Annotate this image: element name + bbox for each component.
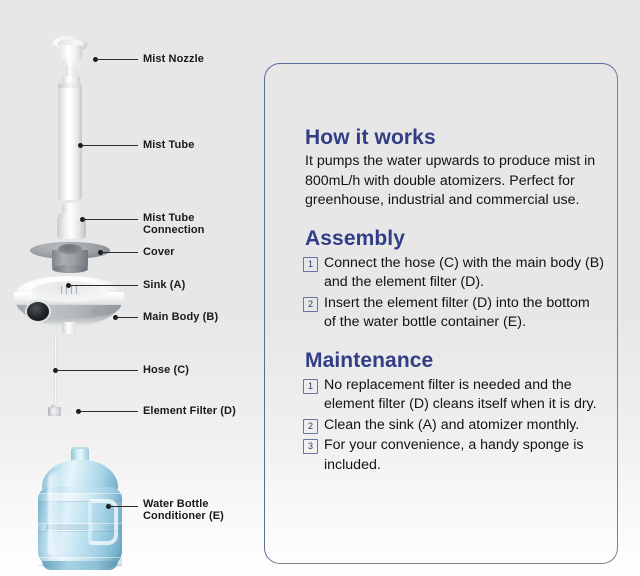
cover-hole bbox=[58, 244, 82, 254]
label-main-body: Main Body (B) bbox=[143, 311, 218, 323]
step-number-box: 2 bbox=[303, 419, 318, 434]
main-body-outlet bbox=[62, 322, 76, 334]
maintenance-title: Maintenance bbox=[305, 349, 605, 373]
part-cover bbox=[30, 238, 110, 274]
exploded-parts-diagram: Mist Nozzle Mist Tube Mist Tube Connecti… bbox=[0, 0, 262, 576]
leader-line-mist-tube bbox=[81, 145, 138, 146]
maintenance-steps: 1 No replacement filter is needed and th… bbox=[305, 376, 605, 476]
leader-line-mist-nozzle bbox=[96, 59, 138, 60]
leader-line-element-filter bbox=[79, 411, 138, 412]
main-body-port bbox=[27, 302, 49, 321]
element-filter-body bbox=[48, 407, 61, 416]
label-cover: Cover bbox=[143, 246, 175, 258]
list-item: 2 Clean the sink (A) and atomizer monthl… bbox=[305, 416, 605, 436]
assembly-steps: 1 Connect the hose (C) with the main bod… bbox=[305, 254, 605, 333]
how-it-works-body: It pumps the water upwards to produce mi… bbox=[305, 152, 605, 211]
part-hose bbox=[54, 336, 57, 410]
list-item: 2 Insert the element filter (D) into the… bbox=[305, 294, 605, 333]
bottle-base bbox=[42, 561, 118, 570]
instructions-content: How it works It pumps the water upwards … bbox=[305, 126, 605, 489]
bottle-highlight bbox=[48, 473, 61, 557]
step-text: No replacement filter is needed and the … bbox=[324, 377, 597, 413]
list-item: 1 Connect the hose (C) with the main bod… bbox=[305, 254, 605, 293]
label-element-filter: Element Filter (D) bbox=[143, 405, 236, 417]
section-how-it-works: How it works It pumps the water upwards … bbox=[305, 126, 605, 211]
list-item: 1 No replacement filter is needed and th… bbox=[305, 376, 605, 415]
part-mist-nozzle bbox=[52, 36, 94, 84]
leader-line-mist-tube-connection bbox=[83, 219, 138, 220]
part-element-filter bbox=[46, 405, 64, 419]
step-number-box: 1 bbox=[303, 379, 318, 394]
label-sink: Sink (A) bbox=[143, 279, 185, 291]
leader-line-hose bbox=[56, 370, 138, 371]
part-water-bottle bbox=[32, 447, 128, 571]
label-hose: Hose (C) bbox=[143, 364, 189, 376]
step-text: Clean the sink (A) and atomizer monthly. bbox=[324, 417, 579, 433]
part-mist-tube bbox=[58, 83, 82, 200]
how-it-works-title: How it works bbox=[305, 126, 605, 150]
label-water-bottle: Water Bottle Conditioner (E) bbox=[143, 498, 224, 522]
assembly-title: Assembly bbox=[305, 227, 605, 251]
label-mist-nozzle: Mist Nozzle bbox=[143, 53, 204, 65]
sink-slots bbox=[61, 286, 81, 294]
section-assembly: Assembly 1 Connect the hose (C) with the… bbox=[305, 227, 605, 333]
list-item: 3 For your convenience, a handy sponge i… bbox=[305, 436, 605, 475]
step-number-box: 1 bbox=[303, 257, 318, 272]
cover-base bbox=[52, 265, 88, 273]
main-body-indicator bbox=[93, 309, 98, 314]
step-number-box: 3 bbox=[303, 439, 318, 454]
leader-line-main-body bbox=[116, 317, 138, 318]
leader-line-sink bbox=[69, 285, 138, 286]
label-mist-tube: Mist Tube bbox=[143, 139, 194, 151]
step-text: Insert the element filter (D) into the b… bbox=[324, 295, 590, 331]
instructions-panel: How it works It pumps the water upwards … bbox=[264, 63, 618, 564]
product-infographic: Mist Nozzle Mist Tube Mist Tube Connecti… bbox=[0, 0, 640, 576]
step-number-box: 2 bbox=[303, 297, 318, 312]
step-text: Connect the hose (C) with the main body … bbox=[324, 255, 604, 291]
leader-line-cover bbox=[101, 252, 138, 253]
section-maintenance: Maintenance 1 No replacement filter is n… bbox=[305, 349, 605, 476]
step-text: For your convenience, a handy sponge is … bbox=[324, 437, 583, 473]
label-mist-tube-connection: Mist Tube Connection bbox=[143, 212, 205, 236]
leader-line-water-bottle bbox=[109, 506, 138, 507]
